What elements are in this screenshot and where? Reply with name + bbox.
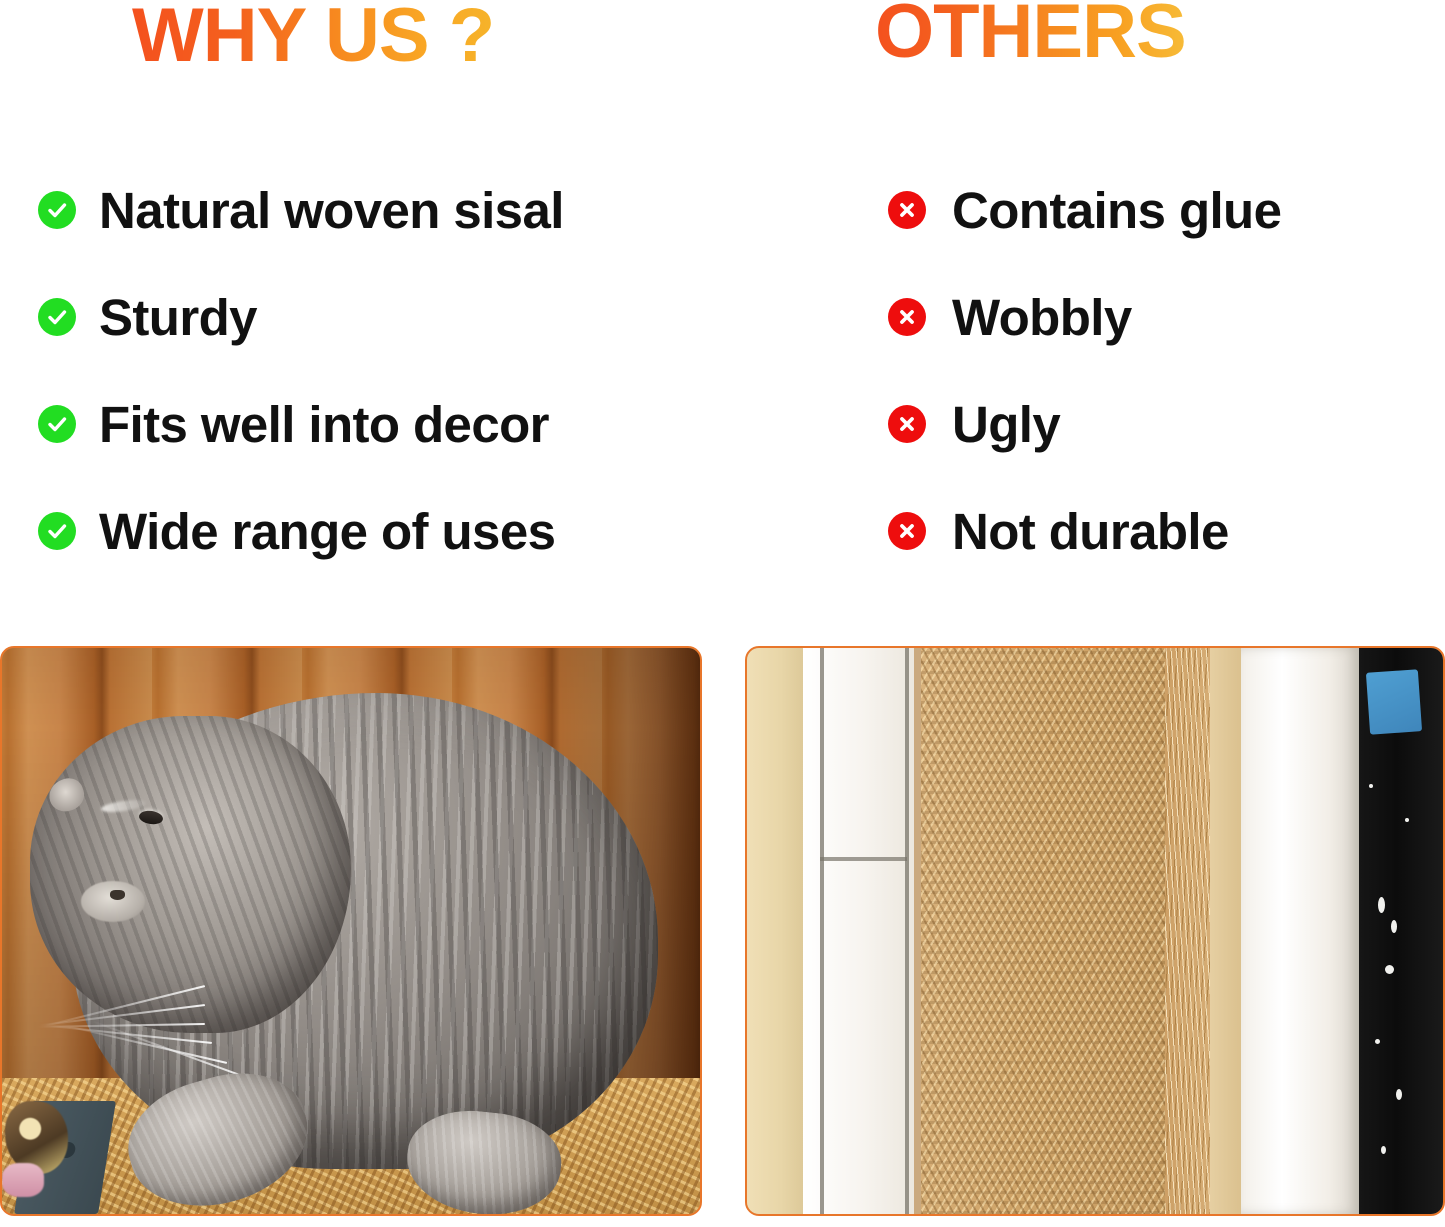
pros-item-label: Natural woven sisal (99, 185, 564, 236)
headings-row: WHY US ? OTHERS (0, 0, 1445, 100)
check-circle-icon (38, 405, 76, 443)
cat-muzzle (81, 881, 145, 922)
pros-list-item: Sturdy (38, 285, 257, 349)
white-door-trim (803, 648, 914, 1214)
frayed-sisal-fibers (1165, 648, 1214, 1214)
why-us-heading: WHY US ? (132, 0, 494, 74)
pros-item-label: Fits well into decor (99, 399, 549, 450)
white-door-jamb (1241, 648, 1359, 1214)
wooden-jamb (1210, 648, 1245, 1214)
cat-on-sisal-mat-photo (0, 646, 702, 1216)
pros-list-item: Natural woven sisal (38, 178, 564, 242)
cons-item-label: Not durable (952, 506, 1229, 557)
photo-row (0, 646, 1445, 1218)
competitor-sisal-mat-photo (745, 646, 1445, 1216)
check-circle-icon (38, 298, 76, 336)
tan-wall (747, 648, 803, 1214)
pros-list-item: Fits well into decor (38, 392, 549, 456)
cons-list-item: Contains glue (888, 178, 1281, 242)
check-circle-icon (38, 512, 76, 550)
pink-fabric (2, 1163, 44, 1197)
x-circle-icon (888, 191, 926, 229)
check-circle-icon (38, 191, 76, 229)
others-heading: OTHERS (875, 0, 1186, 70)
x-circle-icon (888, 512, 926, 550)
cons-item-label: Contains glue (952, 185, 1281, 236)
cat-brow (100, 798, 146, 814)
cons-list-item: Not durable (888, 499, 1229, 563)
cat-nose (110, 890, 124, 900)
x-circle-icon (888, 298, 926, 336)
pros-list-item: Wide range of uses (38, 499, 555, 563)
cat-eye (138, 809, 164, 826)
competitor-sisal-weave (921, 648, 1185, 1214)
cons-list-item: Wobbly (888, 285, 1132, 349)
comparison-infographic: WHY US ? OTHERS Natural woven sisal (0, 0, 1445, 1227)
feature-columns: Natural woven sisal Sturdy Fits well int… (0, 160, 1445, 620)
pros-item-label: Sturdy (99, 292, 257, 343)
cons-list-item: Ugly (888, 392, 1060, 456)
x-circle-icon (888, 405, 926, 443)
cons-item-label: Wobbly (952, 292, 1132, 343)
black-door (1359, 648, 1443, 1214)
pros-item-label: Wide range of uses (99, 506, 555, 557)
cons-item-label: Ugly (952, 399, 1060, 450)
